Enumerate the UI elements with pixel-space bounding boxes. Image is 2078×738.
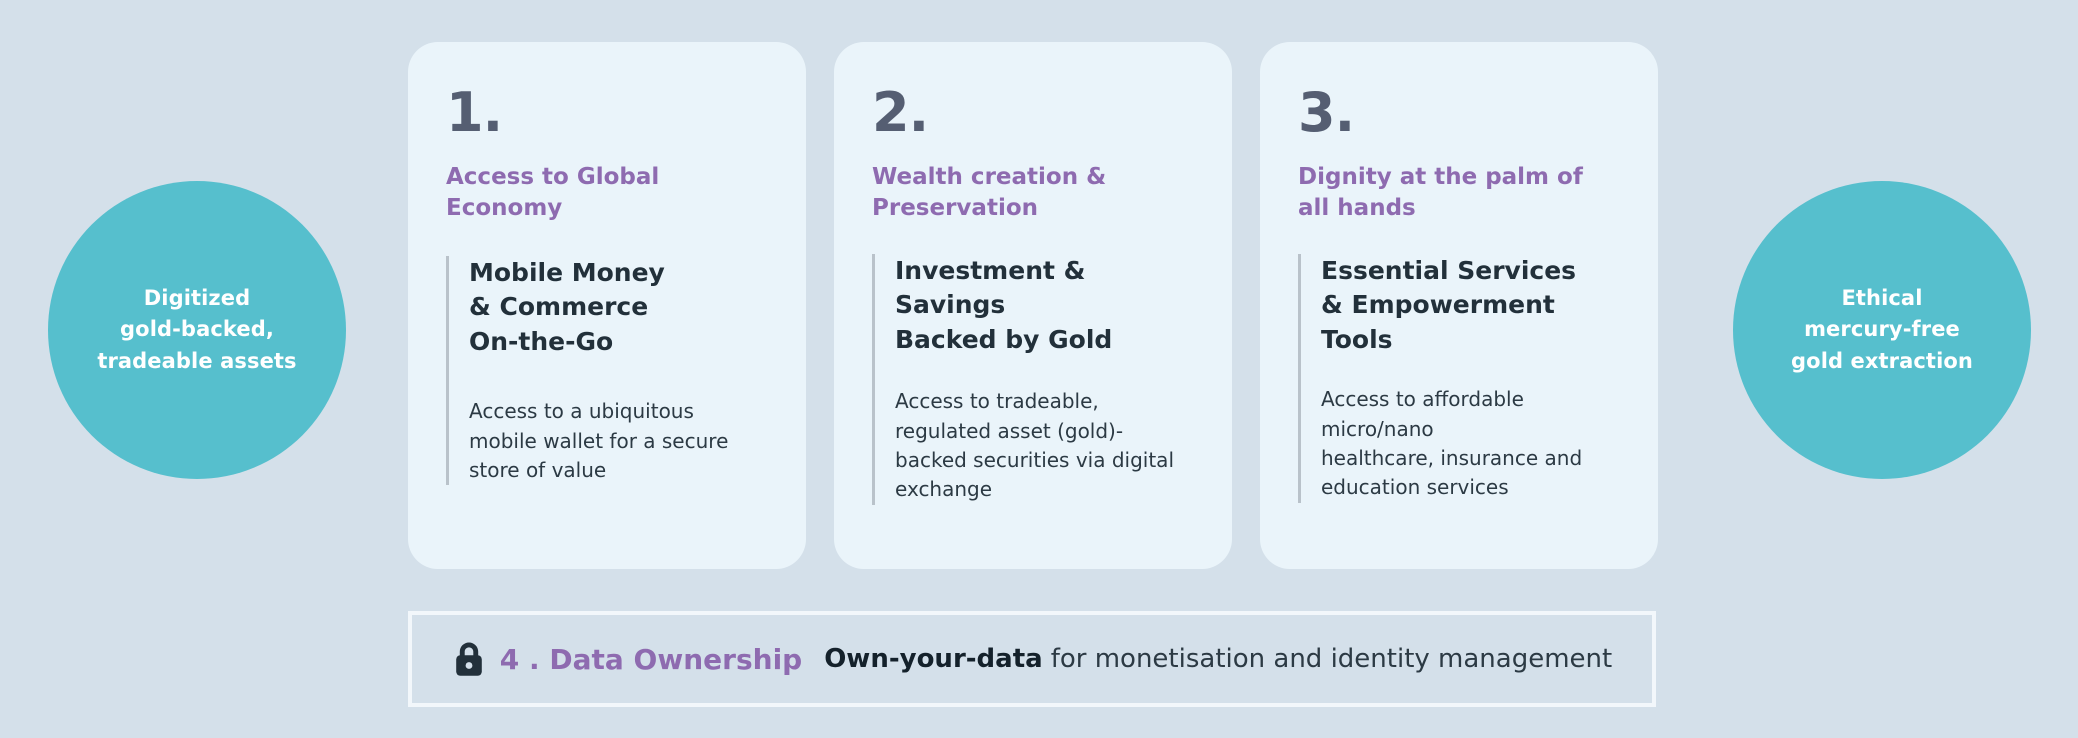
pillar-card-2[interactable]: 2. Wealth creation & Preservation Invest… [834, 42, 1232, 569]
pillar-card-group: 1. Access to Global Economy Mobile Money… [408, 42, 1658, 569]
card-number: 1. [446, 86, 772, 140]
card-number: 3. [1298, 86, 1624, 140]
card-subtitle: Access to Global Economy [446, 162, 772, 224]
pillar-card-1[interactable]: 1. Access to Global Economy Mobile Money… [408, 42, 806, 569]
right-circle-label: Ethical mercury-free gold extraction [1791, 283, 1973, 376]
card-subtitle: Dignity at the palm of all hands [1298, 162, 1624, 224]
card-description: Access to affordable micro/nano healthca… [1321, 385, 1624, 503]
right-value-circle: Ethical mercury-free gold extraction [1733, 181, 2031, 479]
card-body: Essential Services & Empowerment Tools A… [1298, 254, 1624, 503]
card-heading: Mobile Money & Commerce On-the-Go [469, 256, 772, 360]
lock-icon [452, 641, 486, 677]
card-heading: Investment & Savings Backed by Gold [895, 254, 1198, 358]
footer-rest-text: for monetisation and identity management [1051, 644, 1613, 674]
pillar-card-3[interactable]: 3. Dignity at the palm of all hands Esse… [1260, 42, 1658, 569]
card-heading: Essential Services & Empowerment Tools [1321, 254, 1624, 358]
data-ownership-bar[interactable]: 4 . Data Ownership Own-your-data for mon… [408, 611, 1656, 707]
left-circle-label: Digitized gold-backed, tradeable assets [97, 283, 296, 376]
infographic-canvas: Digitized gold-backed, tradeable assets … [0, 0, 2078, 738]
card-body: Investment & Savings Backed by Gold Acce… [872, 254, 1198, 505]
card-description: Access to a ubiquitous mobile wallet for… [469, 397, 772, 485]
card-number: 2. [872, 86, 1198, 140]
card-subtitle: Wealth creation & Preservation [872, 162, 1198, 224]
footer-step-label: 4 . Data Ownership [500, 643, 802, 676]
left-value-circle: Digitized gold-backed, tradeable assets [48, 181, 346, 479]
card-description: Access to tradeable, regulated asset (go… [895, 387, 1198, 505]
card-body: Mobile Money & Commerce On-the-Go Access… [446, 256, 772, 486]
footer-strong-text: Own-your-data [824, 644, 1043, 674]
data-ownership-content: 4 . Data Ownership Own-your-data for mon… [452, 641, 1612, 677]
